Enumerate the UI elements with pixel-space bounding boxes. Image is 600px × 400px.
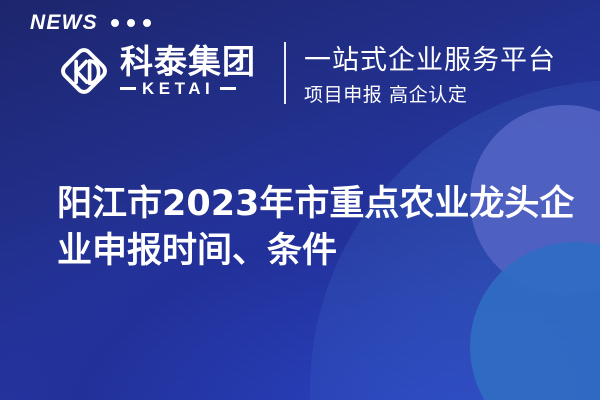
brand-name-en: KETAI [142,80,214,97]
wordmark-rule-right [220,87,236,90]
wordmark-rule-left [120,87,136,90]
brand-logo-lockup: 科泰集团 KETAI [56,43,256,99]
article-headline: 阳江市2023年市重点农业龙头企业申报时间、条件 [57,181,577,275]
tagline-primary: 一站式企业服务平台 [304,44,556,78]
brand-name-en-row: KETAI [120,80,256,97]
tagline-secondary: 项目申报 高企认定 [304,83,556,108]
news-label: NEWS [30,12,98,33]
banner-content: NEWS 科泰集团 KETAI [0,0,600,400]
ketai-diamond-kd-logo-icon [56,43,112,99]
brand-wordmark: 科泰集团 KETAI [120,45,256,98]
brand-name-cn: 科泰集团 [120,45,256,80]
news-banner: NEWS 科泰集团 KETAI [0,0,600,400]
news-kicker: NEWS [30,12,151,33]
news-dots-icon [111,19,151,27]
logo-d-letter [90,61,99,83]
brand-tagline: 一站式企业服务平台 项目申报 高企认定 [304,44,556,107]
vertical-divider [284,42,286,104]
